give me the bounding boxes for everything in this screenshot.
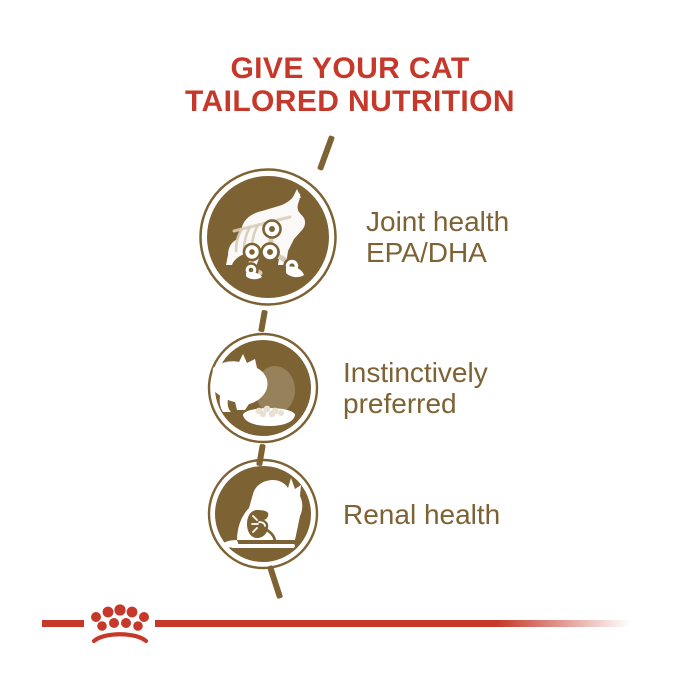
cat-kidney-icon [207,458,319,570]
page-title: GIVE YOUR CAT TAILORED NUTRITION [0,52,700,118]
feature-row-instinctively-preferred: Instinctively preferred [207,332,488,444]
feature-row-joint-health: Joint health EPA/DHA [198,167,509,307]
page-title-line-2: TAILORED NUTRITION [0,85,700,118]
connector-dash-bottom [267,565,283,599]
cat-eating-bowl-icon [207,332,319,444]
connector-dash-1-2 [258,310,268,333]
feature-label-instinctively-preferred: Instinctively preferred [343,357,488,419]
feature-label-instinctively-preferred-line-1: Instinctively [343,357,488,388]
feature-label-joint-health: Joint health EPA/DHA [366,206,509,268]
feature-label-joint-health-line-2: EPA/DHA [366,237,509,268]
cat-skeleton-joints-icon [198,167,338,307]
feature-label-joint-health-line-1: Joint health [366,206,509,237]
footer-rule-right [155,620,630,627]
royal-canin-crown-logo [88,600,152,648]
footer-rule-left [42,620,84,627]
page-title-line-1: GIVE YOUR CAT [0,52,700,85]
promo-infographic: GIVE YOUR CAT TAILORED NUTRITION [0,0,700,700]
footer-brand-bar [0,600,700,652]
feature-label-renal-health: Renal health [343,499,500,530]
feature-label-instinctively-preferred-line-2: preferred [343,388,488,419]
feature-label-renal-health-line-1: Renal health [343,499,500,530]
connector-dash-top [317,135,335,171]
feature-row-renal-health: Renal health [207,458,500,570]
